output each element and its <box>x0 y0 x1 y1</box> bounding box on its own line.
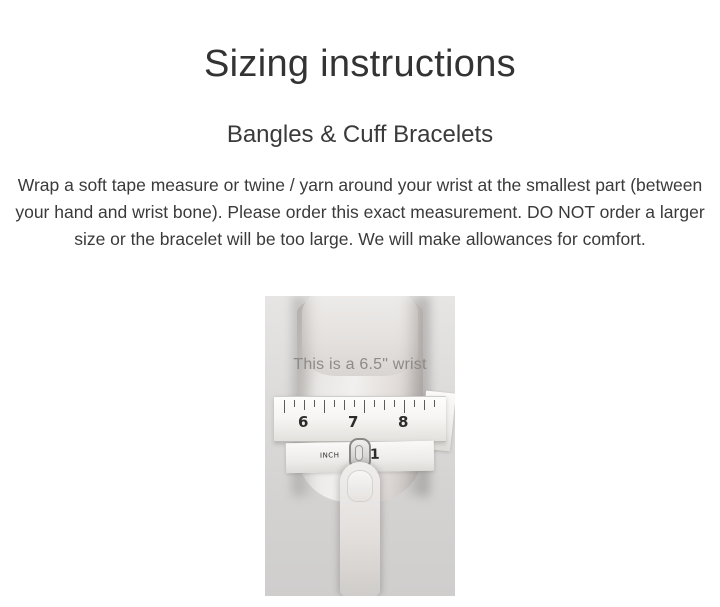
tape-number: 8 <box>398 413 408 431</box>
photo-caption: This is a 6.5" wrist <box>265 356 455 374</box>
page-subtitle: Bangles & Cuff Bracelets <box>0 86 720 148</box>
wrist-with-tape-measure-photo: This is a 6.5" wrist <box>265 296 455 596</box>
photo-container: This is a 6.5" wrist <box>0 296 720 596</box>
tape-number: 7 <box>348 413 358 431</box>
tape-numbers: 6 7 8 <box>274 413 446 435</box>
tape-number: 6 <box>298 413 308 431</box>
fingernail-shape <box>347 470 373 502</box>
tape-number-one: 1 <box>370 447 380 463</box>
tape-measure-band: 6 7 8 <box>274 396 446 442</box>
sizing-instructions-page: Sizing instructions Bangles & Cuff Brace… <box>0 0 720 607</box>
tape-inch-label: INCH <box>320 451 340 459</box>
page-title: Sizing instructions <box>0 0 720 86</box>
instructions-paragraph: Wrap a soft tape measure or twine / yarn… <box>15 148 705 253</box>
finger-shape <box>340 462 380 596</box>
tape-tick-marks <box>274 400 446 414</box>
